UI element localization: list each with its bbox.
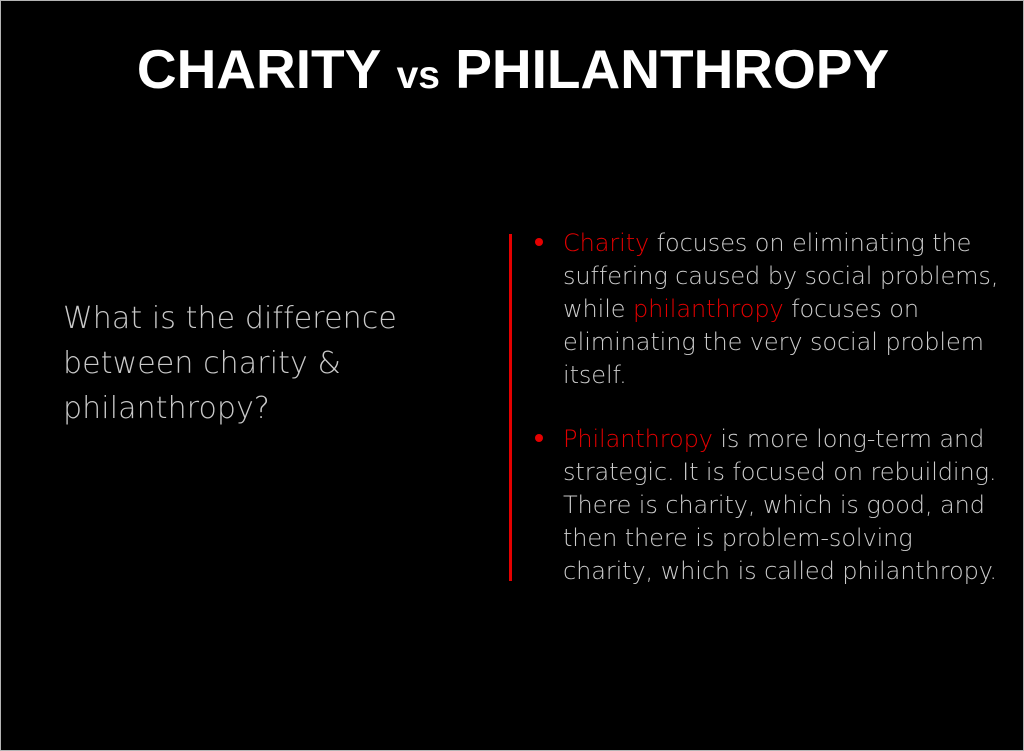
bullet-text: Philanthropy is more long-term and strat… — [563, 423, 1001, 588]
bullet-dot-icon — [535, 434, 543, 442]
list-item: Philanthropy is more long-term and strat… — [531, 423, 1001, 588]
highlighted-term: philanthropy — [633, 295, 784, 323]
bullet-text: Charity focuses on eliminating the suffe… — [563, 227, 1001, 392]
title-part-philanthropy: PHILANTHROPY — [455, 38, 889, 100]
bullet-list: Charity focuses on eliminating the suffe… — [509, 227, 1009, 597]
red-accent-rule — [509, 234, 512, 581]
bullet-dot-icon — [535, 238, 543, 246]
title-part-charity: CHARITY — [137, 38, 381, 100]
page-title: CHARITY vs PHILANTHROPY — [1, 39, 1024, 106]
question-text: What is the difference between charity &… — [63, 296, 443, 431]
highlighted-term: Charity — [563, 229, 649, 257]
highlighted-term: Philanthropy — [563, 425, 713, 453]
list-item: Charity focuses on eliminating the suffe… — [531, 227, 1001, 392]
presentation-slide: CHARITY vs PHILANTHROPY What is the diff… — [0, 0, 1024, 751]
title-part-vs: vs — [397, 54, 440, 97]
